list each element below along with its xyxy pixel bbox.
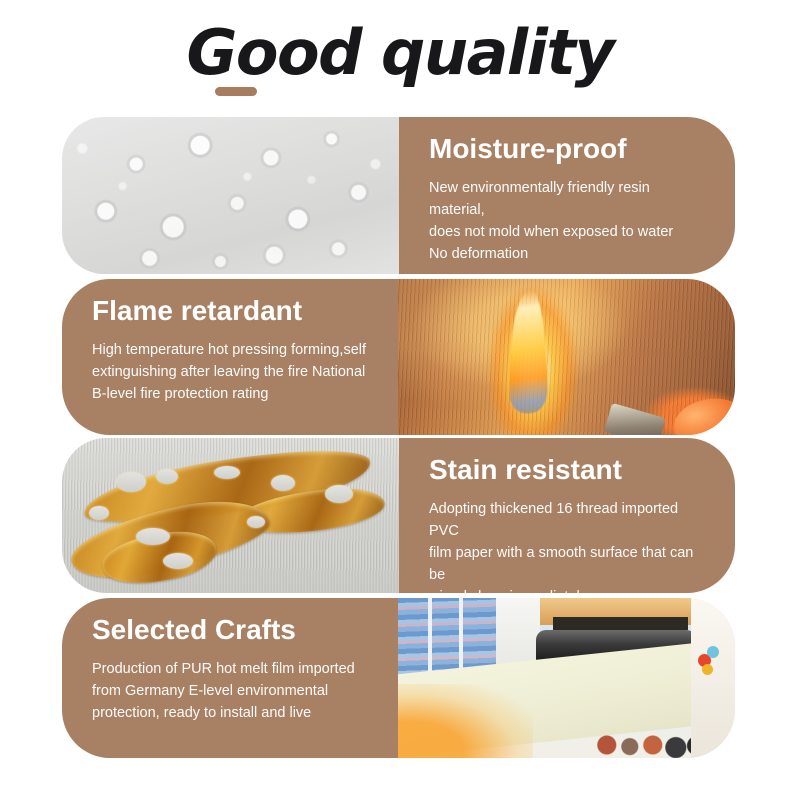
laminating-machine-image: [398, 598, 735, 758]
title-accent-bar: [215, 87, 257, 96]
machine-top-shadow: [553, 617, 688, 630]
control-knob-blue-icon: [707, 646, 719, 658]
feature-panel-selected-crafts: Selected Crafts Production of PUR hot me…: [62, 598, 398, 758]
control-knob-yellow-icon: [702, 664, 713, 675]
amber-stain-image: [62, 438, 399, 593]
poster-header: Good quality: [0, 0, 800, 112]
feature-card-stain-resistant: Stain resistant Adopting thickened 16 th…: [62, 438, 735, 593]
feature-title: Moisture-proof: [429, 134, 709, 165]
feature-card-selected-crafts: Selected Crafts Production of PUR hot me…: [62, 598, 735, 758]
feature-description: New environmentally friendly resin mater…: [429, 177, 709, 265]
feature-description-line: does not mold when exposed to water: [429, 221, 709, 243]
feature-description-line: High temperature hot pressing forming,se…: [92, 339, 372, 361]
stain-gap: [247, 516, 265, 528]
stain-gap: [214, 466, 240, 479]
water-droplets-image: [62, 117, 399, 274]
feature-card-moisture-proof: Moisture-proof New environmentally frien…: [62, 117, 735, 274]
feature-description-line: film paper with a smooth surface that ca…: [429, 542, 709, 586]
feature-card-list: Moisture-proof New environmentally frien…: [0, 112, 800, 772]
stain-gap: [116, 472, 146, 492]
feature-description: High temperature hot pressing forming,se…: [92, 339, 372, 405]
feature-description-line: New environmentally friendly resin mater…: [429, 177, 709, 221]
feature-description-line: extinguishing after leaving the fire Nat…: [92, 361, 372, 383]
feature-panel-stain-resistant: Stain resistant Adopting thickened 16 th…: [399, 438, 735, 593]
warm-light-glow: [398, 684, 533, 758]
stain-gap: [136, 528, 170, 545]
feature-description-line: Production of PUR hot melt film imported: [92, 658, 372, 680]
product-feature-poster: Good quality Moisture-proof New environm…: [0, 0, 800, 800]
machine-control-panel: [691, 598, 735, 758]
page-title: Good quality: [0, 20, 800, 85]
lighter-cap: [671, 395, 735, 435]
feature-description: Adopting thickened 16 thread imported PV…: [429, 498, 709, 593]
feature-description-line: B-level fire protection rating: [92, 383, 372, 405]
stain-gap: [325, 485, 353, 503]
flame-on-wood-image: [398, 279, 735, 435]
feature-description: Production of PUR hot melt film imported…: [92, 658, 372, 724]
feature-description-line: from Germany E-level environmental: [92, 680, 372, 702]
feature-title: Selected Crafts: [92, 615, 372, 646]
feature-description-line: protection, ready to install and live: [92, 702, 372, 724]
stain-gap: [163, 553, 193, 569]
feature-description-line: No deformation: [429, 243, 709, 265]
feature-title: Flame retardant: [92, 296, 372, 327]
feature-panel-moisture-proof: Moisture-proof New environmentally frien…: [399, 117, 735, 274]
flame-icon: [508, 289, 548, 416]
feature-description-line: wiped clean immediately: [429, 586, 709, 593]
lighter-body: [604, 403, 666, 435]
feature-description-line: Adopting thickened 16 thread imported PV…: [429, 498, 709, 542]
feature-title: Stain resistant: [429, 455, 709, 486]
feature-card-flame-retardant: Flame retardant High temperature hot pre…: [62, 279, 735, 435]
feature-panel-flame-retardant: Flame retardant High temperature hot pre…: [62, 279, 398, 435]
